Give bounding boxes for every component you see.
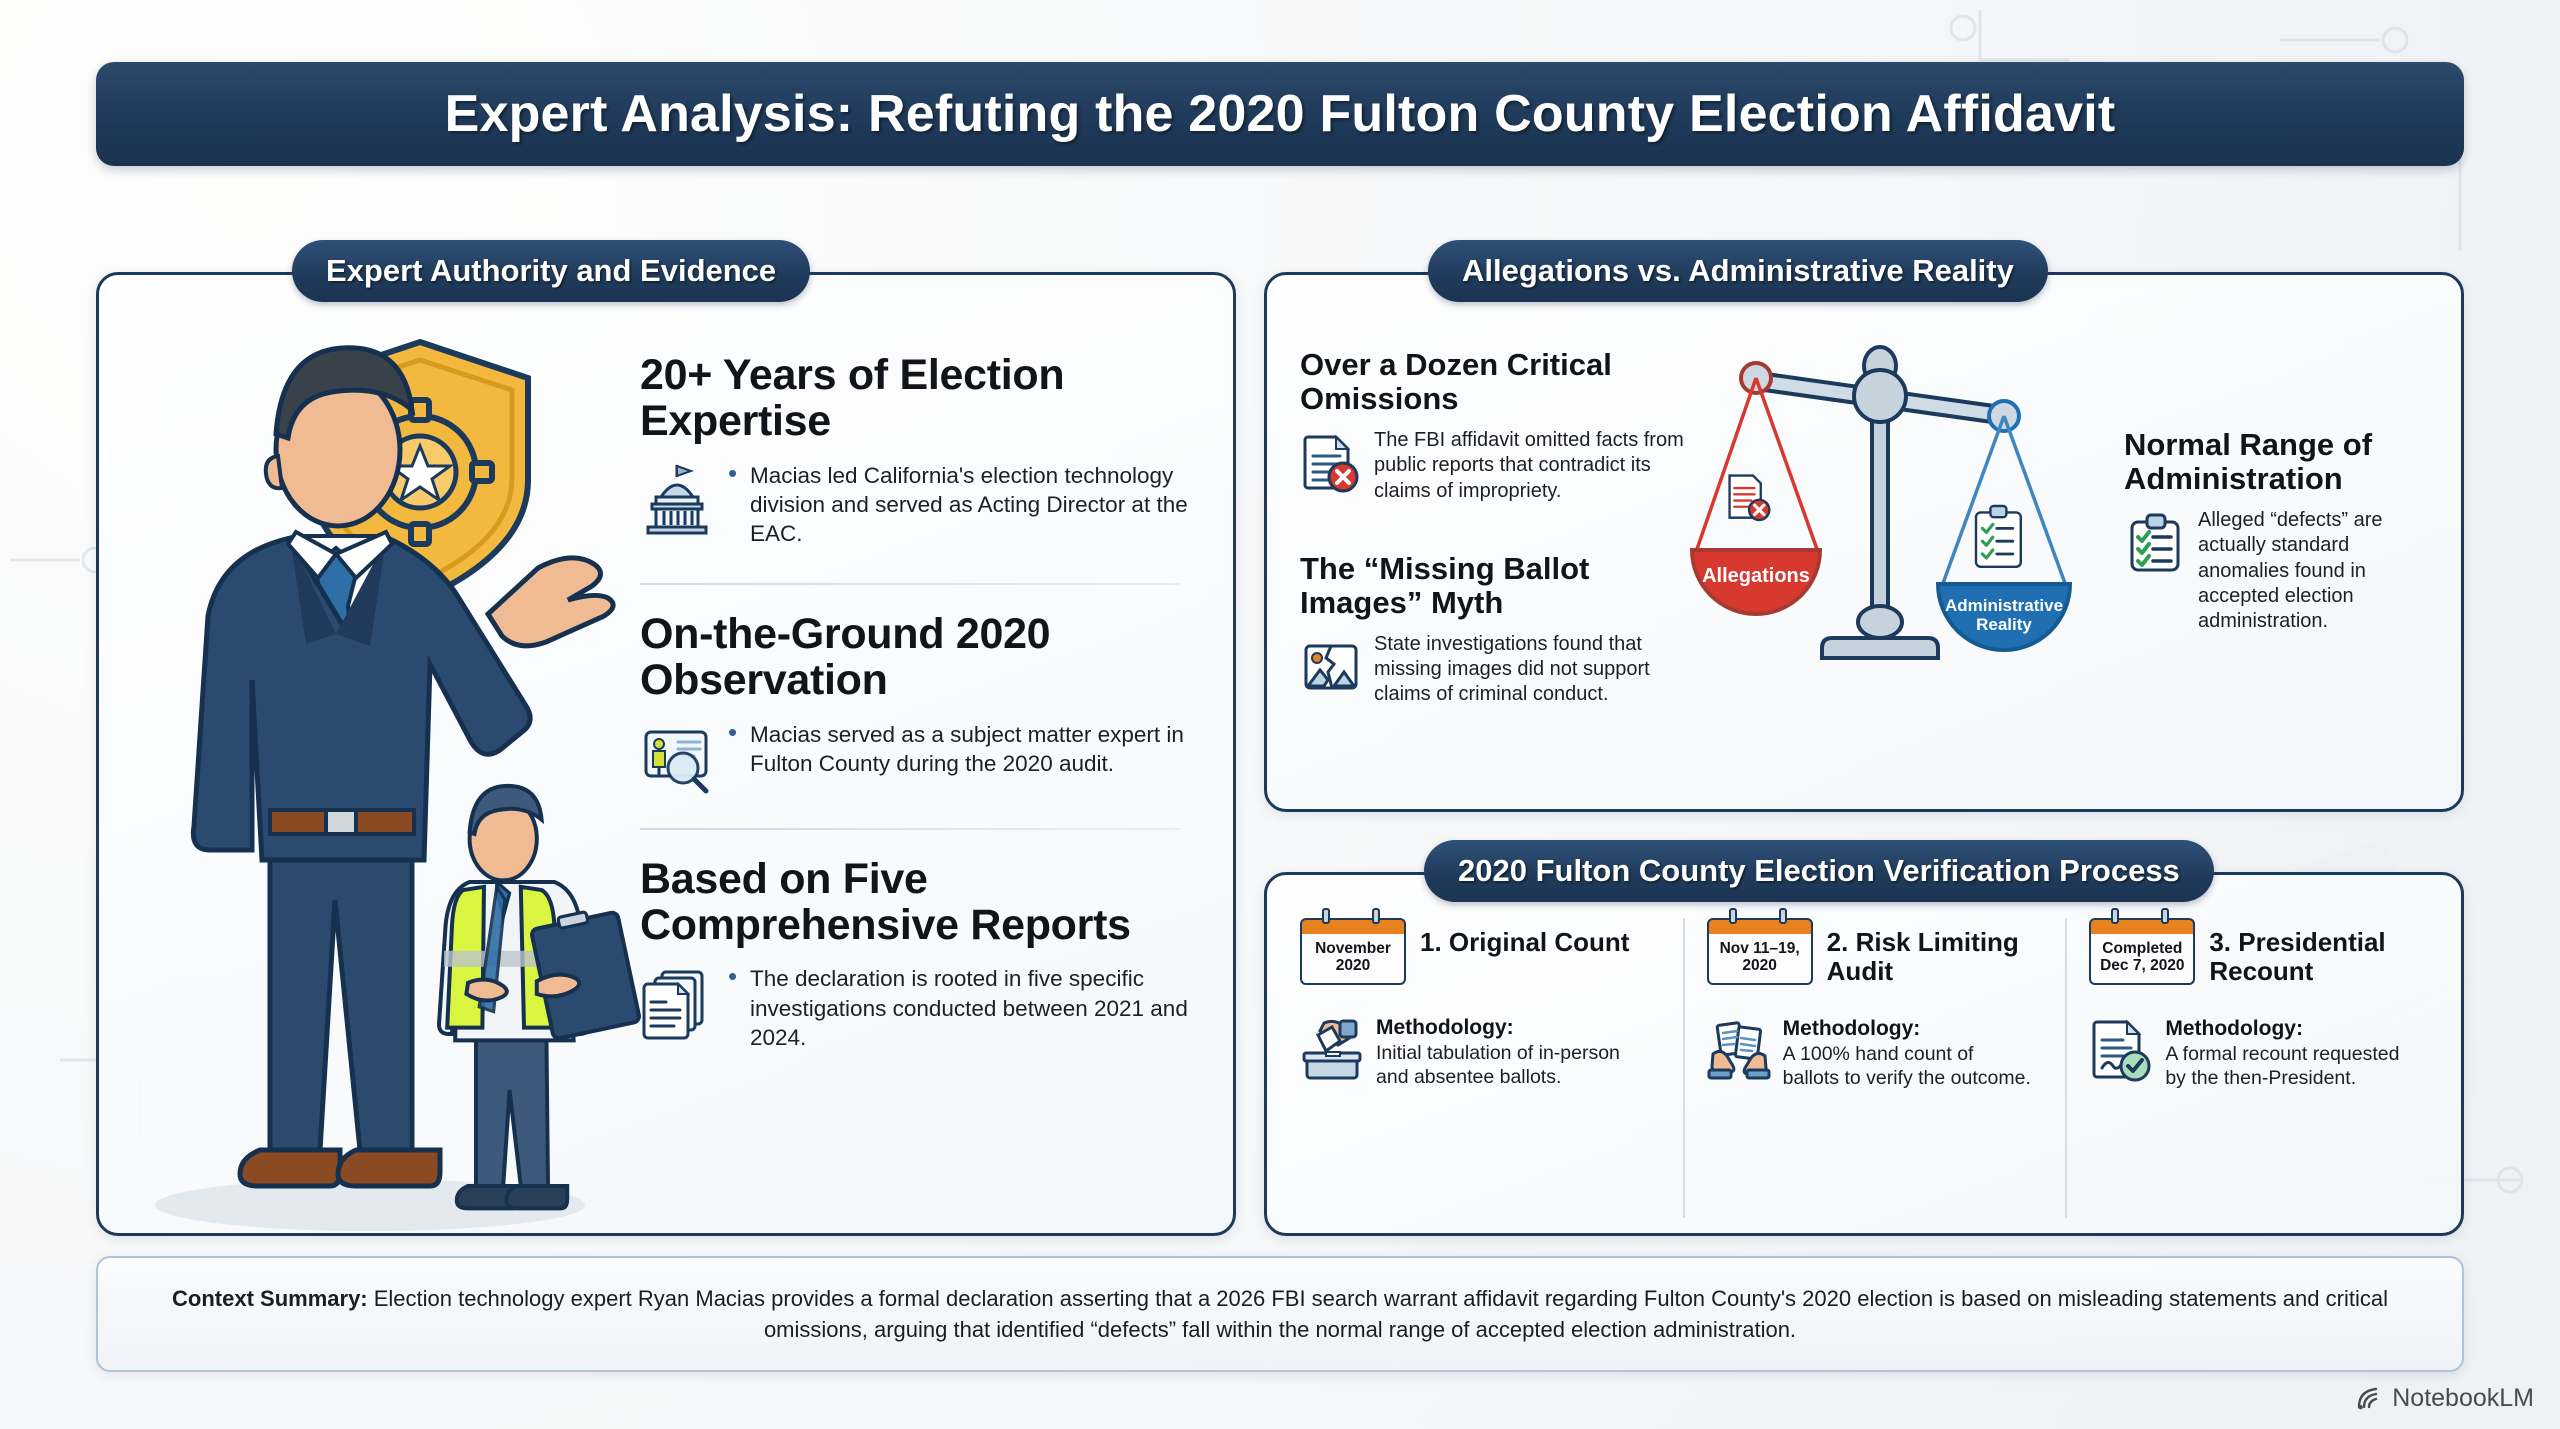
context-summary: Context Summary: Election technology exp… [96, 1256, 2464, 1372]
page-title: Expert Analysis: Refuting the 2020 Fulto… [445, 84, 2116, 144]
expert-illustration [120, 300, 680, 1240]
process-step-3: Completed Dec 7, 2020 3. Presidential Re… [2065, 918, 2430, 1218]
broken-image-icon [1300, 636, 1362, 698]
reports-bullet: The declaration is rooted in five specif… [728, 964, 1200, 1052]
observation-bullet: Macias served as a subject matter expert… [728, 720, 1200, 779]
expert-authority-content: 20+ Years of Election Expertise [640, 352, 1200, 1052]
verification-process-header-pill: 2020 Fulton County Election Verification… [1424, 840, 2214, 902]
process-step1-title: 1. Original Count [1420, 918, 1629, 957]
verification-process-header-label: 2020 Fulton County Election Verification… [1458, 853, 2180, 889]
scale-left-label: Allegations [1702, 565, 1810, 587]
election-worker-figure [439, 786, 640, 1208]
process-step2-method-text: A 100% hand count of ballots to verify t… [1783, 1043, 2031, 1089]
normal-range-text: Alleged “defects” are actually standard … [2198, 508, 2434, 634]
document-error-icon [1300, 432, 1362, 494]
normal-range-heading: Normal Range of Administration [2124, 428, 2434, 496]
balance-scale-icon: Allegations Administrative Reality [1690, 330, 2110, 670]
normal-range-block: Normal Range of Administration Alleged “… [2124, 428, 2434, 634]
calendar-label-step2: Nov 11–19, 2020 [1707, 934, 1813, 985]
expert-authority-header-label: Expert Authority and Evidence [326, 253, 776, 289]
expertise-heading: 20+ Years of Election Expertise [640, 352, 1200, 445]
missing-images-block: The “Missing Ballot Images” Myth State i… [1300, 552, 1700, 708]
process-step3-title: 3. Presidential Recount [2209, 918, 2414, 986]
reports-heading: Based on Five Comprehensive Reports [640, 856, 1200, 949]
divider [640, 583, 1180, 585]
expertise-block: 20+ Years of Election Expertise [640, 352, 1200, 549]
expert-authority-header-pill: Expert Authority and Evidence [292, 240, 810, 302]
calendar-icon-step1: November 2020 [1300, 918, 1406, 985]
scale-right-pan-icon [1976, 506, 2021, 567]
context-summary-text: Election technology expert Ryan Macias p… [368, 1286, 2388, 1342]
process-step2-method-label: Methodology: [1783, 1016, 2032, 1042]
signed-document-check-icon [2089, 1018, 2153, 1082]
presentation-magnifier-icon [640, 722, 714, 796]
omissions-heading: Over a Dozen Critical Omissions [1300, 348, 1700, 416]
normal-range-column: Normal Range of Administration Alleged “… [2124, 428, 2434, 634]
process-step-2: Nov 11–19, 2020 2. Risk Limiting Audit [1683, 918, 2048, 1218]
ballot-box-hand-icon [1300, 1017, 1364, 1081]
scale-left-pan-icon [1730, 476, 1770, 520]
divider [640, 828, 1180, 830]
page-title-bar: Expert Analysis: Refuting the 2020 Fulto… [96, 62, 2464, 166]
process-step2-title: 2. Risk Limiting Audit [1827, 918, 2032, 986]
hands-holding-ballots-icon [1707, 1018, 1771, 1082]
omissions-block: Over a Dozen Critical Omissions The FBI … [1300, 348, 1700, 504]
capitol-building-icon [640, 463, 714, 537]
process-step1-method-text: Initial tabulation of in-person and abse… [1376, 1042, 1620, 1088]
allegations-header-label: Allegations vs. Administrative Reality [1462, 253, 2014, 289]
context-summary-label: Context Summary: [172, 1286, 368, 1311]
process-step1-method-label: Methodology: [1376, 1015, 1649, 1041]
calendar-label-step3: Completed Dec 7, 2020 [2089, 934, 2195, 985]
notebooklm-watermark: NotebookLM [2355, 1384, 2534, 1413]
expertise-bullet: Macias led California's election technol… [728, 461, 1200, 549]
omissions-text: The FBI affidavit omitted facts from pub… [1374, 428, 1700, 504]
reports-block: Based on Five Comprehensive Reports The … [640, 856, 1200, 1053]
missing-images-heading: The “Missing Ballot Images” Myth [1300, 552, 1700, 620]
allegations-header-pill: Allegations vs. Administrative Reality [1428, 240, 2048, 302]
process-step-1: November 2020 1. Original Count Methodol… [1300, 918, 1665, 1218]
allegations-text-column: Over a Dozen Critical Omissions The FBI … [1300, 348, 1700, 708]
notebooklm-watermark-label: NotebookLM [2392, 1384, 2534, 1413]
missing-images-text: State investigations found that missing … [1374, 632, 1700, 708]
clipboard-checklist-icon [2124, 512, 2186, 574]
process-step3-method-label: Methodology: [2165, 1016, 2414, 1042]
observation-heading: On-the-Ground 2020 Observation [640, 611, 1200, 704]
calendar-label-step1: November 2020 [1300, 934, 1406, 985]
notebooklm-logo-icon [2355, 1385, 2383, 1413]
stacked-documents-icon [640, 966, 714, 1040]
verification-steps-grid: November 2020 1. Original Count Methodol… [1300, 918, 2430, 1218]
process-step3-method-text: A formal recount requested by the then-P… [2165, 1043, 2399, 1089]
infographic-canvas: Expert Analysis: Refuting the 2020 Fulto… [0, 0, 2560, 1429]
observation-block: On-the-Ground 2020 Observation Macias se… [640, 611, 1200, 796]
calendar-icon-step3: Completed Dec 7, 2020 [2089, 918, 2195, 985]
scale-right-label-line1: Administrative [1945, 596, 2063, 615]
scale-right-label-line2: Reality [1976, 615, 2032, 634]
calendar-icon-step2: Nov 11–19, 2020 [1707, 918, 1813, 985]
